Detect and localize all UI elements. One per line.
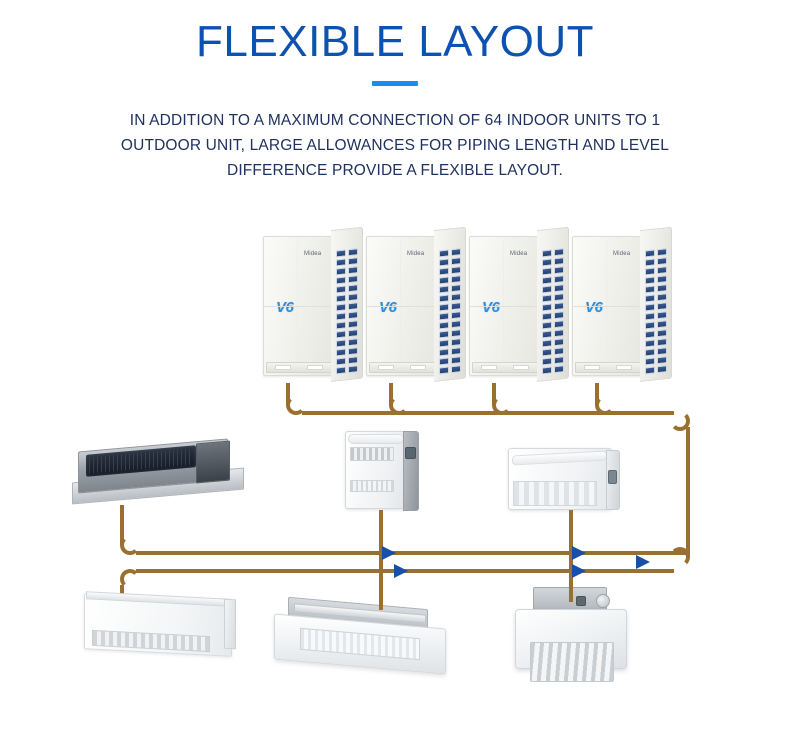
flow-arrow-upper-right <box>572 546 586 560</box>
series-badge: V6 <box>585 299 602 316</box>
flow-arrow-lower-right <box>572 564 586 578</box>
fc-display <box>608 470 617 484</box>
outdoor-unit-4[interactable]: Midea V6 <box>572 230 670 382</box>
indoor-unit-one-way-cassette[interactable] <box>274 603 454 673</box>
odu-cabinet: Midea V6 <box>263 236 333 376</box>
odu-base <box>575 362 641 373</box>
series-badge: V6 <box>276 299 293 316</box>
page-subtitle: IN ADDITION TO A MAXIMUM CONNECTION OF 6… <box>95 108 695 183</box>
indoor-unit-wall-console[interactable] <box>84 597 240 667</box>
flexible-layout-page: FLEXIBLE LAYOUT IN ADDITION TO A MAXIMUM… <box>0 0 790 736</box>
console-top-grille <box>350 447 394 461</box>
console-side-panel <box>403 431 419 511</box>
console-casing <box>345 431 407 509</box>
pipe-drop-four-way-cassette <box>569 580 573 602</box>
series-badge: V6 <box>379 299 396 316</box>
pipe-main-line-upper <box>136 551 688 555</box>
odu-side-grille <box>640 227 672 382</box>
flow-arrow-right-end <box>636 555 650 569</box>
odu-cabinet: Midea V6 <box>572 236 642 376</box>
pipe-odu-header-trunk <box>302 411 674 415</box>
odu-cabinet: Midea V6 <box>366 236 436 376</box>
pipe-drop-one-way-cassette <box>379 580 383 610</box>
odu-side-grille <box>331 227 363 382</box>
odu-side-grille <box>537 227 569 382</box>
fc-intake-grille <box>513 481 597 506</box>
odu-side-grille <box>434 227 466 382</box>
outdoor-unit-3[interactable]: Midea V6 <box>469 230 567 382</box>
pipe-right-riser <box>686 427 690 557</box>
odu-coil-grille <box>542 248 564 366</box>
brand-logo: Midea <box>407 251 424 257</box>
indoor-unit-floor-ceiling[interactable] <box>508 448 626 518</box>
fc-air-outlet <box>512 451 607 466</box>
odu-base <box>472 362 538 373</box>
cassette-control-box <box>576 596 586 606</box>
page-title: FLEXIBLE LAYOUT <box>0 0 790 64</box>
outdoor-unit-1[interactable]: Midea V6 <box>263 230 361 382</box>
console-bottom-grille <box>350 480 394 492</box>
duct-control-panel <box>196 441 230 484</box>
brand-logo: Midea <box>510 251 527 257</box>
flow-arrow-upper-mid <box>382 546 396 560</box>
brand-logo: Midea <box>613 251 630 257</box>
flow-arrow-lower-mid <box>394 564 408 578</box>
series-badge: V6 <box>482 299 499 316</box>
header-section: FLEXIBLE LAYOUT IN ADDITION TO A MAXIMUM… <box>0 0 790 183</box>
cassette-face-panel <box>515 609 627 669</box>
cassette-air-grille <box>530 642 614 682</box>
pipe-elbow-right-bottom <box>670 547 690 567</box>
odu-coil-grille <box>645 248 667 366</box>
system-layout-diagram: Midea V6 Midea V6 <box>0 205 790 736</box>
indoor-unit-console[interactable] <box>345 431 425 519</box>
odu-base <box>369 362 435 373</box>
odu-cabinet: Midea V6 <box>469 236 539 376</box>
console-display <box>405 447 416 459</box>
indoor-unit-slim-duct[interactable] <box>78 445 248 505</box>
fc-casing <box>508 448 612 510</box>
odu-coil-grille <box>439 248 461 366</box>
console-air-outlet <box>348 434 404 444</box>
odu-base <box>266 362 332 373</box>
wall-console-end-cap <box>224 599 236 650</box>
cassette-fan-port <box>596 594 610 608</box>
outdoor-unit-2[interactable]: Midea V6 <box>366 230 464 382</box>
odu-coil-grille <box>336 248 358 366</box>
title-accent-bar <box>372 81 418 86</box>
brand-logo: Midea <box>304 251 321 257</box>
indoor-unit-four-way-cassette[interactable] <box>515 587 635 677</box>
